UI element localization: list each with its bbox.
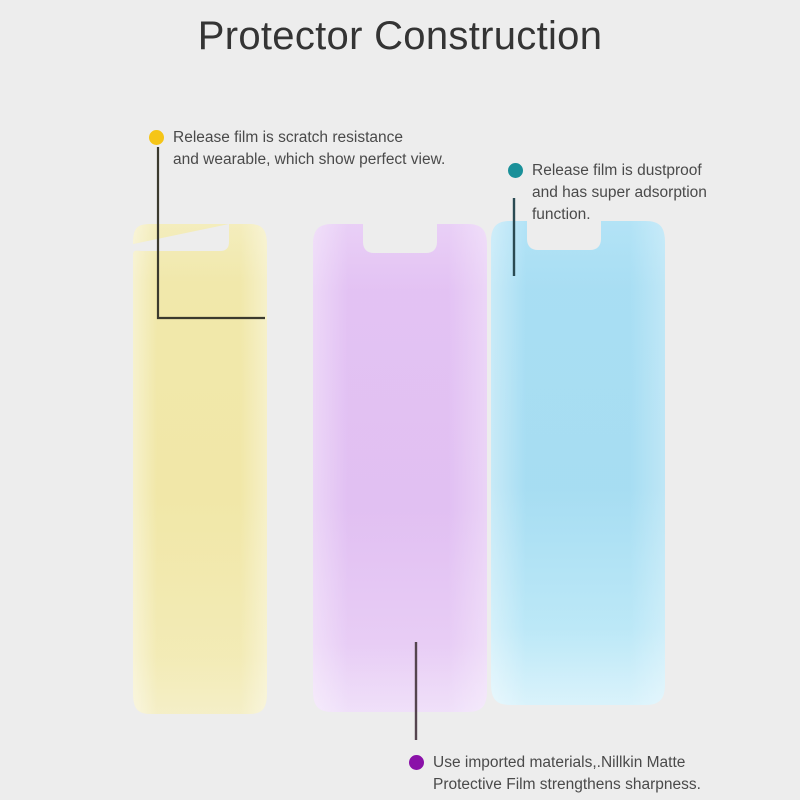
leader-line-yellow	[150, 145, 280, 330]
bullet-dot-teal-icon	[508, 163, 523, 178]
leader-line-purple	[405, 640, 435, 745]
matte-protective-film-purple	[313, 222, 487, 716]
bullet-dot-yellow-icon	[149, 130, 164, 145]
page-title: Protector Construction	[0, 14, 800, 59]
annotation-yellow-text: Release film is scratch resistance and w…	[173, 127, 445, 171]
annotation-blue-text: Release film is dustproof and has super …	[532, 160, 707, 226]
protector-construction-infographic: Protector Construction	[0, 0, 800, 800]
annotation-purple-text: Use imported materials,.Nillkin Matte Pr…	[433, 752, 701, 796]
bullet-dot-purple-icon	[409, 755, 424, 770]
leader-line-blue	[505, 196, 535, 281]
release-film-blue	[491, 217, 665, 711]
